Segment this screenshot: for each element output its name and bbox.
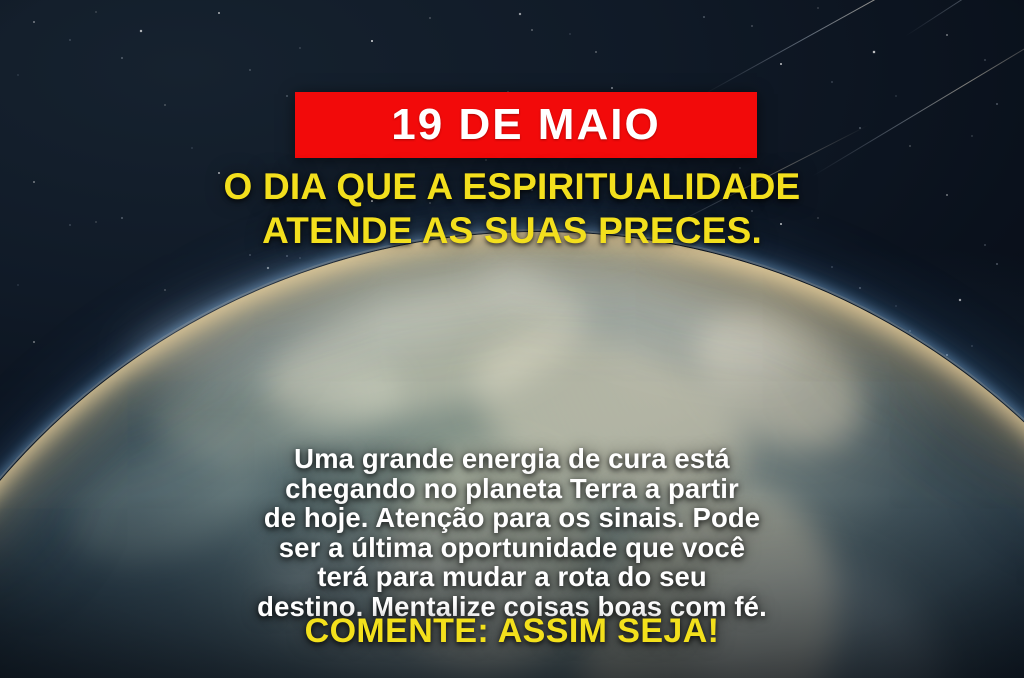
date-banner: 19 DE MAIO	[295, 92, 757, 158]
body-line-1: Uma grande energia de cura está	[0, 444, 1024, 474]
headline-line-1: O DIA QUE A ESPIRITUALIDADE	[0, 168, 1024, 205]
date-banner-text: 19 DE MAIO	[391, 103, 660, 147]
content-layer: 19 DE MAIO O DIA QUE A ESPIRITUALIDADE A…	[0, 0, 1024, 685]
bottom-white-strip	[0, 678, 1024, 685]
headline: O DIA QUE A ESPIRITUALIDADE ATENDE AS SU…	[0, 168, 1024, 249]
call-to-action-text: COMENTE: ASSIM SEJA!	[0, 614, 1024, 648]
body-line-3: de hoje. Atenção para os sinais. Pode	[0, 503, 1024, 533]
poster-canvas: 19 DE MAIO O DIA QUE A ESPIRITUALIDADE A…	[0, 0, 1024, 685]
body-line-5: terá para mudar a rota do seu	[0, 562, 1024, 592]
body-paragraph: Uma grande energia de cura está chegando…	[0, 444, 1024, 621]
body-line-4: ser a última oportunidade que você	[0, 533, 1024, 563]
body-line-2: chegando no planeta Terra a partir	[0, 474, 1024, 504]
headline-line-2: ATENDE AS SUAS PRECES.	[0, 212, 1024, 249]
